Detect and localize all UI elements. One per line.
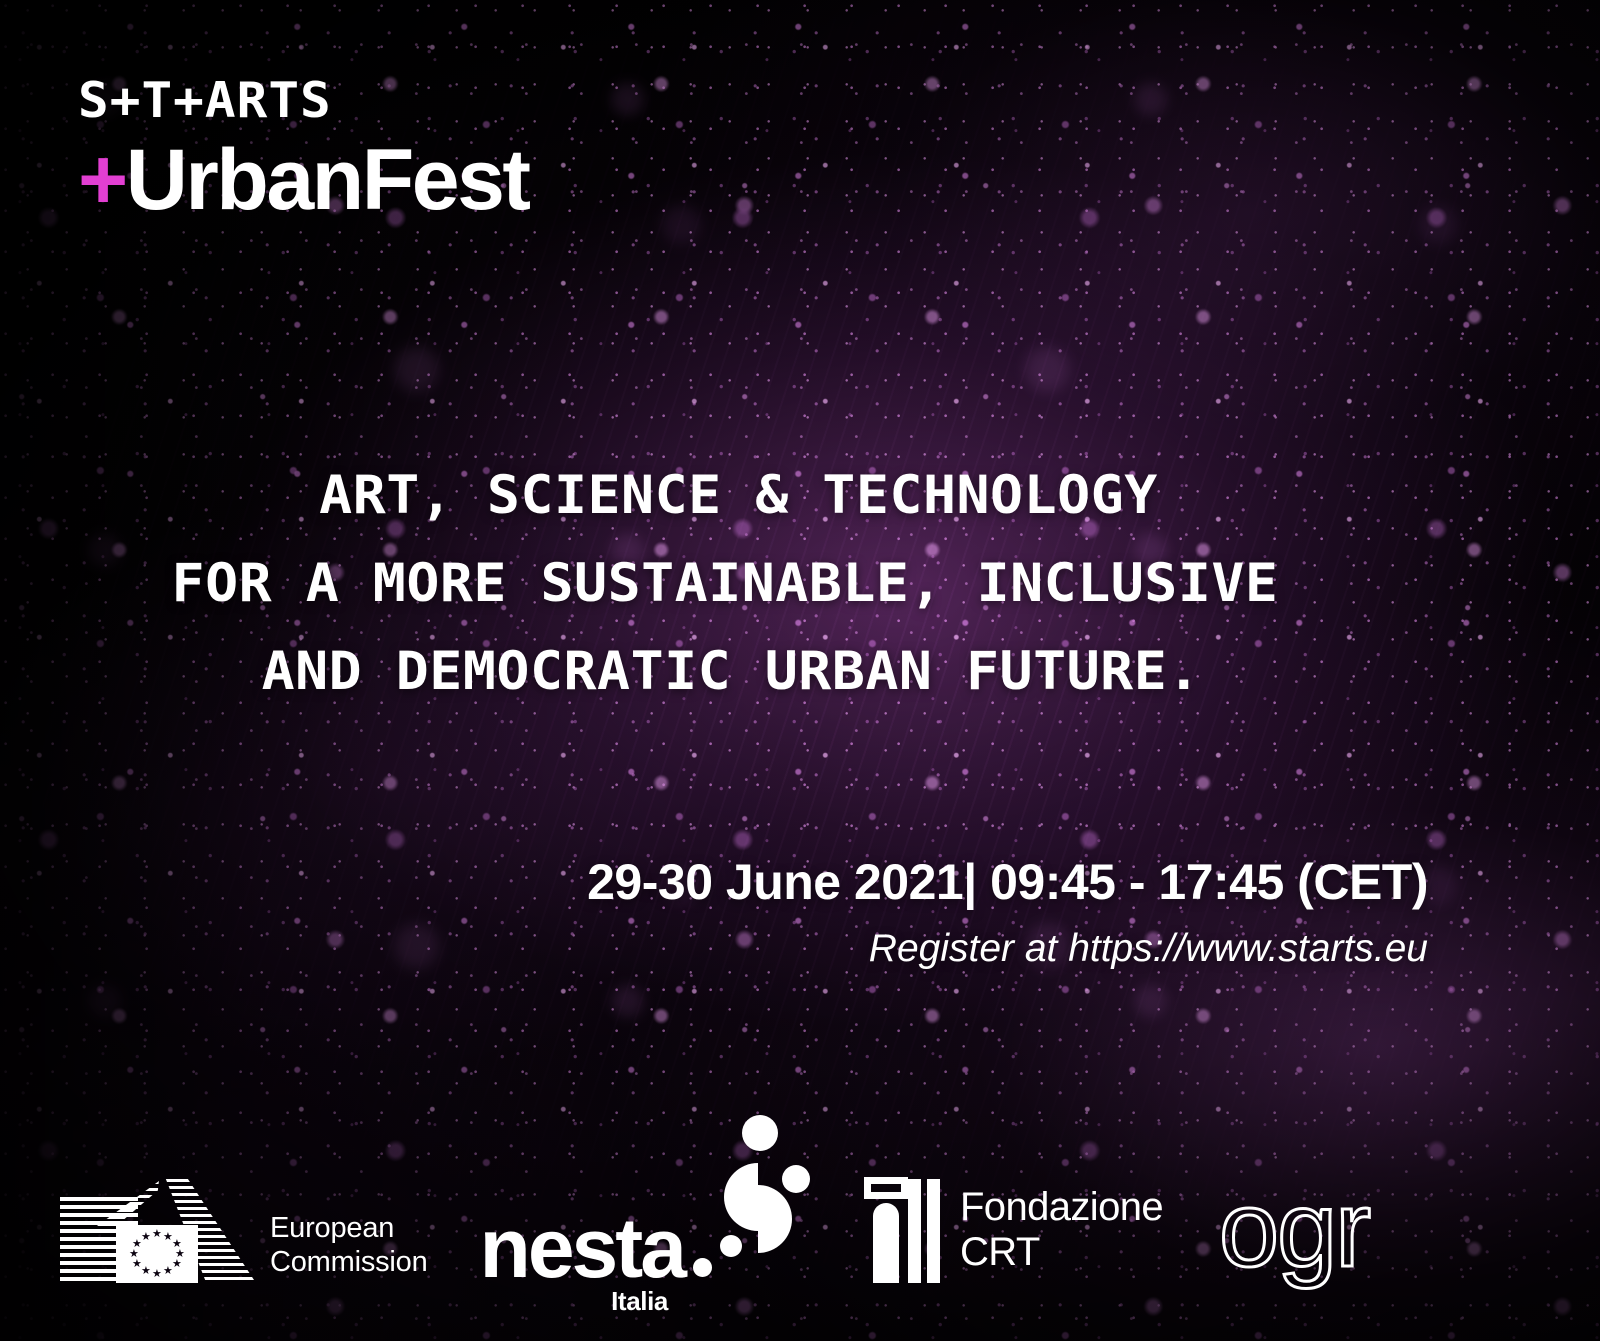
- ec-label-line-2: Commission: [270, 1245, 428, 1279]
- headline: ART, SCIENCE & TECHNOLOGY FOR A MORE SUS…: [0, 452, 1600, 716]
- ec-label-line-1: European: [270, 1211, 428, 1245]
- partner-logo-row: ★ ★ ★ ★ ★ ★ ★ ★ ★ ★ ★ ★: [60, 1115, 1369, 1283]
- european-commission-emblem-icon: ★ ★ ★ ★ ★ ★ ★ ★ ★ ★ ★ ★: [60, 1179, 256, 1283]
- crt-column: [873, 1203, 899, 1283]
- nesta-dot-icon: [693, 1258, 712, 1277]
- nesta-halfcircle-right: [758, 1185, 792, 1253]
- logo-european-commission: ★ ★ ★ ★ ★ ★ ★ ★ ★ ★ ★ ★: [60, 1179, 428, 1283]
- plus-glyph: +: [78, 132, 126, 228]
- poster-content: S+T+ARTS +UrbanFest ART, SCIENCE & TECHN…: [0, 0, 1600, 1341]
- logo-ogr: ogr: [1219, 1180, 1369, 1283]
- poster-canvas: S+T+ARTS +UrbanFest ART, SCIENCE & TECHN…: [0, 0, 1600, 1341]
- fondazione-crt-pillar-icon: [864, 1177, 944, 1283]
- nesta-wordmark: nesta: [480, 1214, 712, 1283]
- event-logo: S+T+ARTS +UrbanFest: [78, 76, 529, 223]
- fondazione-crt-label: Fondazione CRT: [960, 1185, 1163, 1275]
- ogr-wordmark: ogr: [1219, 1180, 1369, 1283]
- crt-capital-block: [864, 1177, 908, 1199]
- nesta-circle-mid: [782, 1165, 810, 1193]
- nesta-word-text: nesta: [480, 1201, 684, 1295]
- nesta-halfcircle-left: [724, 1163, 758, 1231]
- schedule-block: 29-30 June 2021| 09:45 - 17:45 (CET) Reg…: [587, 856, 1428, 971]
- eu-stars-circle-icon: ★ ★ ★ ★ ★ ★ ★ ★ ★ ★ ★ ★: [116, 1225, 198, 1283]
- crt-bar-one: [908, 1179, 921, 1283]
- headline-line-3: AND DEMOCRATIC URBAN FUTURE.: [0, 628, 1475, 716]
- nesta-circles-icon: [720, 1115, 812, 1283]
- european-commission-label: European Commission: [270, 1211, 428, 1283]
- date-time-text: 29-30 June 2021| 09:45 - 17:45 (CET): [587, 856, 1428, 909]
- headline-line-1: ART, SCIENCE & TECHNOLOGY: [0, 452, 1475, 540]
- starts-wordmark: S+T+ARTS: [78, 76, 547, 125]
- crt-label-line-1: Fondazione: [960, 1185, 1163, 1230]
- crt-label-line-2: CRT: [960, 1230, 1163, 1275]
- nesta-circle-low: [720, 1235, 742, 1257]
- crt-bar-two: [927, 1179, 940, 1283]
- headline-line-2: FOR A MORE SUSTAINABLE, INCLUSIVE: [0, 540, 1475, 628]
- register-url-text[interactable]: Register at https://www.starts.eu: [587, 927, 1428, 971]
- logo-nesta-italia: nesta Italia: [480, 1115, 812, 1283]
- logo-fondazione-crt: Fondazione CRT: [864, 1177, 1163, 1283]
- nesta-circle-top: [742, 1115, 778, 1151]
- urbanfest-wordmark: +UrbanFest: [78, 137, 529, 223]
- urbanfest-text: UrbanFest: [126, 132, 529, 228]
- nesta-type-group: nesta Italia: [480, 1214, 712, 1283]
- eu-flag-icon: ★ ★ ★ ★ ★ ★ ★ ★ ★ ★ ★ ★: [116, 1225, 198, 1283]
- nesta-subtitle: Italia: [611, 1286, 668, 1317]
